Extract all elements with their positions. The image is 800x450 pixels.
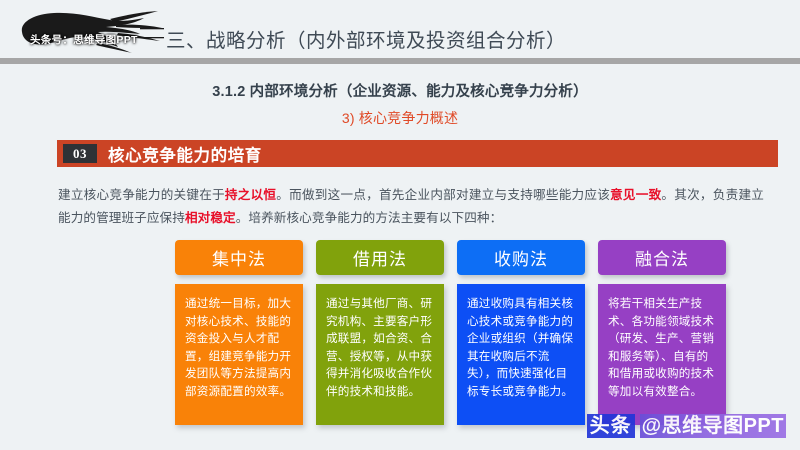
method-column: 集中法通过统一目标，加大对核心技术、技能的资金投入与人才配置，组建竞争能力开发团… (175, 240, 303, 425)
method-body: 通过与其他厂商、研究机构、主要客户形成联盟，如合资、合营、授权等，从中获得并消化… (316, 284, 444, 425)
slide-header: 头条号：思维导图PPT 三、战略分析（内外部环境及投资组合分析） (0, 0, 800, 58)
method-column: 收购法通过收购具有相关核心技术或竞争能力的企业或组织（并确保其在收购后不流失），… (457, 240, 585, 425)
body-paragraph: 建立核心竞争能力的关键在于持之以恒。而做到这一点，首先企业内部对建立与支持哪些能… (58, 184, 764, 230)
section-banner: 03 核心竞争能力的培育 (57, 140, 778, 167)
method-header[interactable]: 融合法 (598, 240, 726, 275)
method-header[interactable]: 借用法 (316, 240, 444, 275)
paragraph-text: 。而做到这一点，首先企业内部对建立与支持哪些能力应该 (276, 188, 610, 202)
section-sub-subheading: 3) 核心竞争力概述 (0, 108, 800, 128)
method-columns: 集中法通过统一目标，加大对核心技术、技能的资金投入与人才配置，组建竞争能力开发团… (175, 240, 755, 425)
brand-badge: 头条号：思维导图PPT (14, 6, 166, 56)
header-divider (0, 58, 800, 64)
watermark: 头条 @思维导图PPT (587, 414, 786, 438)
paragraph-emphasis: 相对稳定 (185, 211, 236, 225)
brand-badge-label: 头条号：思维导图PPT (30, 32, 138, 47)
watermark-handle: @思维导图PPT (640, 414, 786, 438)
section-banner-title: 核心竞争能力的培育 (108, 142, 262, 166)
method-body: 将若干相关生产技术、各功能领域技术（研发、生产、营销和服务等）、自有的和借用或收… (598, 284, 726, 425)
method-column: 融合法将若干相关生产技术、各功能领域技术（研发、生产、营销和服务等）、自有的和借… (598, 240, 726, 425)
method-header[interactable]: 集中法 (175, 240, 303, 275)
paragraph-text: 建立核心竞争能力的关键在于 (58, 188, 225, 202)
section-subheading: 3.1.2 内部环境分析（企业资源、能力及核心竞争力分析） (0, 80, 800, 101)
paragraph-text: 。培养新核心竞争能力的方法主要有以下四种： (236, 211, 503, 225)
brush-stroke-icon (14, 6, 166, 56)
page-title: 三、战略分析（内外部环境及投资组合分析） (166, 24, 566, 53)
paragraph-emphasis: 意见一致 (610, 188, 661, 202)
presentation-slide: 头条号：思维导图PPT 三、战略分析（内外部环境及投资组合分析） 3.1.2 内… (0, 0, 800, 450)
method-body: 通过收购具有相关核心技术或竞争能力的企业或组织（并确保其在收购后不流失），而快速… (457, 284, 585, 425)
section-number-badge: 03 (63, 144, 97, 163)
method-header[interactable]: 收购法 (457, 240, 585, 275)
watermark-mark: 头条 (587, 414, 635, 438)
method-body: 通过统一目标，加大对核心技术、技能的资金投入与人才配置，组建竞争能力开发团队等方… (175, 284, 303, 425)
method-column: 借用法通过与其他厂商、研究机构、主要客户形成联盟，如合资、合营、授权等，从中获得… (316, 240, 444, 425)
paragraph-emphasis: 持之以恒 (225, 188, 276, 202)
